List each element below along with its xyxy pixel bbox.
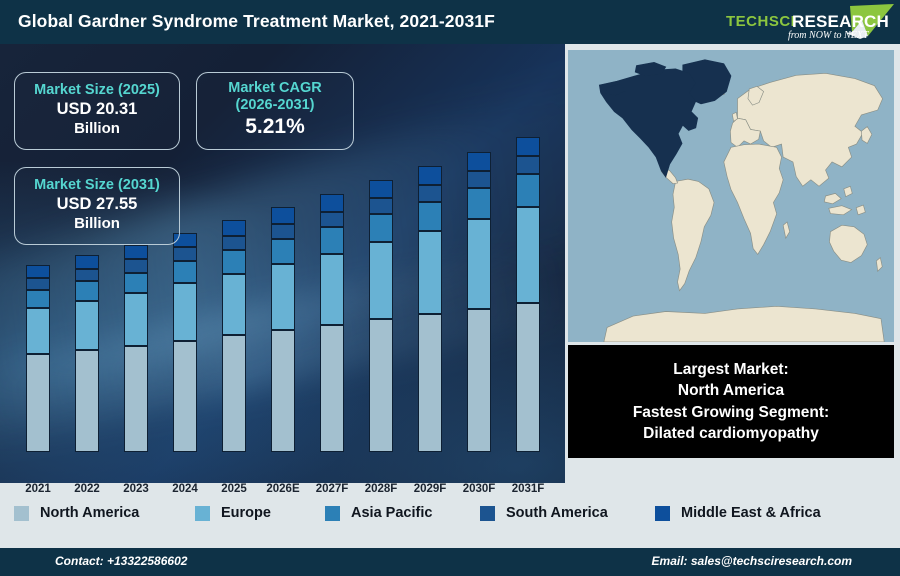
bar-segment-north-america <box>173 341 197 452</box>
kpi-market-size-2025: Market Size (2025) USD 20.31 Billion <box>14 72 180 150</box>
bar-segment-asia-pacific <box>418 202 442 232</box>
bar-segment-south-america <box>516 156 540 174</box>
legend-item-asia-pacific[interactable]: Asia Pacific <box>325 505 432 521</box>
bar-segment-asia-pacific <box>516 174 540 207</box>
kpi-market-size-2031-unit: Billion <box>15 215 179 234</box>
bar-segment-middle-east-africa <box>467 152 491 171</box>
legend-label: North America <box>40 505 139 521</box>
page-title: Global Gardner Syndrome Treatment Market… <box>18 11 495 32</box>
kpi-market-cagr-label-line1: Market CAGR <box>197 80 353 97</box>
bar-segment-south-america <box>369 198 393 214</box>
bar-2031F <box>516 137 540 452</box>
bar-segment-europe <box>26 308 50 354</box>
legend-item-north-america[interactable]: North America <box>14 505 139 521</box>
kpi-market-size-2031-label: Market Size (2031) <box>15 177 179 194</box>
bar-segment-europe <box>173 283 197 340</box>
bar-segment-north-america <box>26 354 50 452</box>
bar-2024 <box>173 233 197 452</box>
bar-2029F <box>418 166 442 452</box>
logo-text-research: RESEARCH <box>792 12 889 31</box>
bar-segment-middle-east-africa <box>418 166 442 185</box>
bar-segment-europe <box>271 264 295 330</box>
legend-swatch-icon <box>480 506 495 521</box>
legend-swatch-icon <box>195 506 210 521</box>
legend-item-middle-east-africa[interactable]: Middle East & Africa <box>655 505 821 521</box>
header-bar: Global Gardner Syndrome Treatment Market… <box>0 0 900 44</box>
bar-segment-middle-east-africa <box>271 207 295 224</box>
kpi-market-cagr: Market CAGR (2026-2031) 5.21% <box>196 72 354 150</box>
bar-2023 <box>124 245 148 452</box>
bar-segment-asia-pacific <box>173 261 197 283</box>
bar-2028F <box>369 180 393 452</box>
kpi-market-size-2025-unit: Billion <box>15 120 179 139</box>
bar-segment-south-america <box>467 171 491 188</box>
world-map-svg <box>568 50 894 342</box>
bar-segment-south-america <box>271 224 295 239</box>
bar-segment-middle-east-africa <box>369 180 393 198</box>
bar-segment-south-america <box>75 269 99 282</box>
bar-segment-south-america <box>418 185 442 202</box>
bar-segment-europe <box>75 301 99 350</box>
bar-2027F <box>320 194 344 452</box>
bar-2030F <box>467 152 491 452</box>
callout-box: Largest Market: North America Fastest Gr… <box>568 345 894 458</box>
bar-segment-north-america <box>516 303 540 452</box>
legend-label: Asia Pacific <box>351 505 432 521</box>
bar-segment-middle-east-africa <box>222 220 246 236</box>
footer-email: Email: sales@techsciresearch.com <box>652 554 852 568</box>
callout-largest-market-value: North America <box>678 380 784 401</box>
bar-segment-europe <box>516 207 540 302</box>
bar-segment-north-america <box>222 335 246 452</box>
bar-segment-south-america <box>173 247 197 261</box>
bar-segment-north-america <box>124 346 148 452</box>
bar-segment-south-america <box>222 236 246 251</box>
logo-tagline: from NOW to NEXT <box>788 30 870 41</box>
logo-text-techsci: TECHSCI <box>726 13 795 30</box>
legend-label: Europe <box>221 505 271 521</box>
bar-segment-north-america <box>369 319 393 452</box>
bar-segment-middle-east-africa <box>516 137 540 156</box>
kpi-market-size-2025-label: Market Size (2025) <box>15 82 179 99</box>
bar-2026E <box>271 207 295 452</box>
bar-segment-europe <box>222 274 246 336</box>
bar-segment-north-america <box>271 330 295 452</box>
bar-segment-europe <box>369 242 393 319</box>
kpi-market-size-2031: Market Size (2031) USD 27.55 Billion <box>14 167 180 245</box>
kpi-market-cagr-value: 5.21% <box>197 114 353 140</box>
bar-segment-asia-pacific <box>467 188 491 219</box>
legend-swatch-icon <box>655 506 670 521</box>
legend-item-south-america[interactable]: South America <box>480 505 608 521</box>
legend-swatch-icon <box>325 506 340 521</box>
bar-segment-asia-pacific <box>124 273 148 294</box>
bar-segment-asia-pacific <box>222 250 246 273</box>
bar-segment-south-america <box>320 212 344 227</box>
bar-segment-north-america <box>320 325 344 452</box>
bar-segment-south-america <box>26 278 50 290</box>
bar-segment-asia-pacific <box>369 214 393 242</box>
bar-segment-europe <box>320 254 344 325</box>
legend-label: South America <box>506 505 608 521</box>
bar-segment-europe <box>418 231 442 314</box>
kpi-market-size-2031-value: USD 27.55 <box>15 194 179 215</box>
bar-segment-north-america <box>418 314 442 452</box>
kpi-market-cagr-label-line2: (2026-2031) <box>197 97 353 114</box>
bar-2025 <box>222 220 246 452</box>
bar-segment-europe <box>467 219 491 308</box>
bar-segment-middle-east-africa <box>124 245 148 260</box>
bar-segment-south-america <box>124 259 148 272</box>
bar-segment-north-america <box>467 309 491 452</box>
bar-segment-middle-east-africa <box>320 194 344 212</box>
chart-legend: North AmericaEuropeAsia PacificSouth Ame… <box>0 492 900 534</box>
footer-contact: Contact: +13322586602 <box>55 554 187 568</box>
legend-item-europe[interactable]: Europe <box>195 505 271 521</box>
callout-fastest-segment-value: Dilated cardiomyopathy <box>643 423 819 444</box>
bar-segment-north-america <box>75 350 99 452</box>
footer-bar: Contact: +13322586602 Email: sales@techs… <box>0 548 900 576</box>
infographic-root: Market Size (2025) USD 20.31 Billion Mar… <box>0 0 900 576</box>
bar-segment-asia-pacific <box>75 281 99 300</box>
bar-segment-asia-pacific <box>320 227 344 253</box>
callout-largest-market-label: Largest Market: <box>673 359 788 380</box>
callout-fastest-segment-label: Fastest Growing Segment: <box>633 402 829 423</box>
bar-segment-europe <box>124 293 148 346</box>
bar-2021 <box>26 265 50 452</box>
bar-2022 <box>75 255 99 452</box>
bar-segment-asia-pacific <box>26 290 50 308</box>
bar-segment-middle-east-africa <box>75 255 99 269</box>
logo-icon: TECHSCI RESEARCH from NOW to NEXT <box>718 2 894 42</box>
legend-swatch-icon <box>14 506 29 521</box>
techsci-research-logo: TECHSCI RESEARCH from NOW to NEXT <box>718 2 894 42</box>
bar-segment-asia-pacific <box>271 239 295 264</box>
kpi-market-size-2025-value: USD 20.31 <box>15 99 179 120</box>
world-map <box>568 50 894 342</box>
legend-label: Middle East & Africa <box>681 505 821 521</box>
bar-segment-middle-east-africa <box>26 265 50 278</box>
